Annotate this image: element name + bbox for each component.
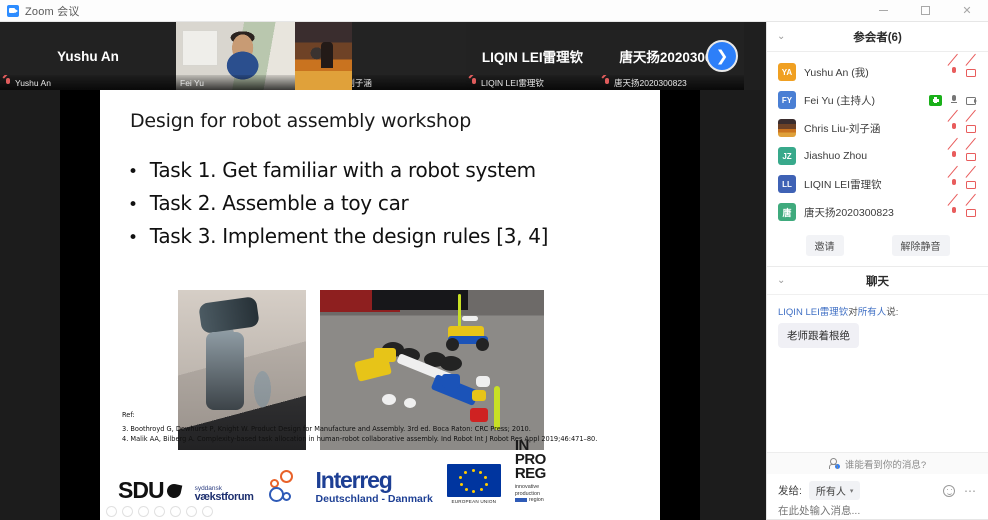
bullet-marker: • [128,164,138,181]
meeting-stage: Yushu An Yushu An Fei Yu Chris Liu-刘子涵 [0,22,766,520]
video-tile-display-name: LIQIN LEI雷理钦 [478,46,587,66]
chat-privacy-text: 谁能看到你的消息? [845,457,926,471]
chat-message-list: LIQIN LEI雷理钦对所有人说: 老师跟着根绝 [767,295,988,452]
chat-composer: 发给: 所有人 ▾ ⋯ [767,474,988,519]
participant-name: Yushu An (我) [804,65,940,80]
participant-row-tang-tianyang[interactable]: 唐 唐天扬2020300823 [767,198,988,226]
zoom-meeting-window: Zoom 会议 ✕ Yushu An Yushu An Fei Yu [0,0,988,520]
video-tile-label-text: LIQIN LEI雷理钦 [481,77,544,89]
video-tile-chris-liu[interactable] [295,22,352,90]
camera-off-icon[interactable] [966,206,978,218]
pen-icon[interactable] [138,506,149,517]
zoom-icon[interactable] [170,506,181,517]
sdu-logo-text: SDU [118,477,164,504]
maximize-button[interactable] [904,0,946,21]
video-feed-chris-liu [295,22,352,90]
participant-row-fei-yu[interactable]: FY Fei Yu (主持人) [767,86,988,114]
chat-sender-name: LIQIN LEI雷理钦 [778,307,848,318]
ref-label: Ref: [122,410,642,421]
avatar: 唐 [778,203,796,221]
title-bar: Zoom 会议 ✕ [0,0,988,22]
list-item: • Task 3. Implement the design rules [3,… [128,224,648,248]
participants-panel-header: ⌄ 参会者(6) [767,22,988,52]
camera-off-icon[interactable] [966,66,978,78]
participant-status-icons [948,66,978,78]
slide-letterbox-right [660,90,700,520]
video-tile-label-text: Chris Liu-刘子涵 [352,77,372,89]
participant-status-icons [948,206,978,218]
mic-muted-icon[interactable] [948,66,960,78]
prev-slide-icon[interactable] [106,506,117,517]
participant-name: LIQIN LEI雷理钦 [804,177,940,192]
participant-name: 唐天扬2020300823 [804,205,940,220]
avatar: YA [778,63,796,81]
close-button[interactable]: ✕ [946,0,988,21]
bullet-text: Task 1. Get familiar with a robot system [150,158,536,182]
participants-action-buttons: 邀请 解除静音 [767,226,988,267]
chevron-down-icon[interactable]: ⌄ [777,275,785,286]
chat-message-bubble: 老师跟着根绝 [778,323,859,348]
slide-letterbox-left [60,90,100,520]
filmstrip-spacer [744,22,766,90]
emoji-icon[interactable] [943,485,955,497]
send-to-value: 所有人 [816,483,846,498]
interreg-line1: Interreg [316,469,433,492]
screen-share-icon [929,95,942,106]
slide-logos: SDU syddansk vækstforum Interreg [118,458,646,504]
participant-filmstrip: Yushu An Yushu An Fei Yu Chris Liu-刘子涵 [0,22,766,90]
avatar: LL [778,175,796,193]
interreg-line2: Deutschland - Danmark [316,494,433,505]
participant-row-yushu-an[interactable]: YA Yushu An (我) [767,58,988,86]
chat-panel-title: 聊天 [767,273,988,289]
video-tile-yushu-an[interactable]: Yushu An Yushu An [0,22,176,90]
video-tile-label-text: 唐天扬2020300823 [614,77,687,89]
vaekstforum-line2: vækstforum [195,492,254,504]
participants-list: YA Yushu An (我) FY Fei Yu (主持人) Chris [767,52,988,226]
avatar [778,119,796,137]
bullet-marker: • [128,230,138,247]
invite-button[interactable]: 邀请 [806,235,844,256]
send-to-label: 发给: [778,483,802,498]
camera-on-icon[interactable] [966,94,978,106]
mic-muted-icon[interactable] [948,178,960,190]
bullet-text: Task 3. Implement the design rules [3, 4… [150,224,548,248]
mic-muted-icon [4,78,12,88]
photo-background-dark [372,290,468,310]
slide-title: Design for robot assembly workshop [130,110,471,132]
video-tile-label: LIQIN LEI雷理钦 [466,75,599,90]
list-item: • Task 2. Assemble a toy car [128,191,648,215]
inpro-bar-icon [515,498,527,502]
more-icon[interactable]: ⋯ [964,488,977,494]
presentation-slide: Design for robot assembly workshop • Tas… [100,90,660,520]
bullet-text: Task 2. Assemble a toy car [150,191,409,215]
mic-muted-icon[interactable] [948,206,960,218]
mic-on-icon[interactable] [948,94,960,106]
participant-row-jiashuo-zhou[interactable]: JZ Jiashuo Zhou [767,142,988,170]
video-tile-label: Chris Liu-刘子涵 [352,75,466,90]
participant-status-icons [948,150,978,162]
composer-icons: ⋯ [943,485,977,497]
chat-message-sender: LIQIN LEI雷理钦对所有人说: [778,304,977,318]
participant-row-liqin-lei[interactable]: LL LIQIN LEI雷理钦 [767,170,988,198]
chevron-down-icon[interactable]: ⌄ [777,31,785,42]
sdu-leaf-icon [165,482,182,499]
inpro-line3: REG [515,467,546,481]
participant-name: Fei Yu (主持人) [804,93,921,108]
more-options-icon[interactable] [202,506,213,517]
eu-caption: EUROPEAN UNION [447,499,501,504]
syddansk-vaekstforum-logo: syddansk vækstforum [195,486,254,504]
reference-entry: 4. Malik AA, Bilberg A. Complexity-based… [122,434,642,445]
european-union-logo: EUROPEAN UNION [447,464,501,504]
video-tile-label: 唐天扬2020300823 [599,75,744,90]
chat-suffix: 说: [886,307,898,318]
reference-entry: 3. Boothroyd G, Dewhurst P, Knight W. Pr… [122,424,642,435]
camera-off-icon[interactable] [966,122,978,134]
slide-references: Ref: 3. Boothroyd G, Dewhurst P, Knight … [122,410,642,445]
camera-off-icon[interactable] [966,150,978,162]
video-tile-label: Fei Yu [176,75,295,90]
thumbnail-icon[interactable] [154,506,165,517]
bullet-marker: • [128,197,138,214]
zoom-icon [7,5,19,17]
inpro-sub2: production [515,491,546,498]
list-item: • Task 1. Get familiar with a robot syst… [128,158,648,182]
blank-screen-icon[interactable] [186,506,197,517]
sdu-logo: SDU [118,477,181,504]
camera-off-icon[interactable] [966,178,978,190]
avatar: JZ [778,147,796,165]
right-side-panel: ⌄ 参会者(6) YA Yushu An (我) FY Fei Yu (主持人) [766,22,988,520]
participant-status-icons [948,122,978,134]
participant-name: Jiashuo Zhou [804,150,940,162]
next-slide-icon[interactable] [122,506,133,517]
video-tile-label: Yushu An [0,75,176,90]
avatar: FY [778,91,796,109]
slide-bullet-list: • Task 1. Get familiar with a robot syst… [128,158,648,257]
chat-privacy-notice[interactable]: 谁能看到你的消息? [767,452,988,474]
video-tile-display-name: Yushu An [53,49,123,64]
mic-muted-icon [603,78,611,88]
bubbles-icon [268,470,302,504]
video-tile-fei-yu[interactable]: Fei Yu [176,22,295,90]
mic-muted-icon[interactable] [948,150,960,162]
participant-name: Chris Liu-刘子涵 [804,121,940,136]
inpro-sub1: innovative [515,484,546,491]
chevron-down-icon: ▾ [850,487,854,495]
participants-panel-title: 参会者(6) [767,29,988,45]
participant-status-icons [948,178,978,190]
video-tile-liqin-lei[interactable]: LIQIN LEI雷理钦 LIQIN LEI雷理钦 [466,22,599,90]
chat-target: 所有人 [858,307,887,318]
mic-muted-icon [470,78,478,88]
eu-flag-icon [447,464,501,497]
shared-screen-area: Design for robot assembly workshop • Tas… [0,90,766,520]
mic-muted-icon[interactable] [948,122,960,134]
inpro-sub3: region [529,497,544,503]
chat-composer-toolbar: 发给: 所有人 ▾ ⋯ [778,481,977,500]
unmute-button[interactable]: 解除静音 [892,235,950,256]
window-controls: ✕ [862,0,988,21]
send-to-dropdown[interactable]: 所有人 ▾ [809,481,861,500]
chat-connector: 对 [848,307,858,318]
chevron-right-icon[interactable]: ❯ [706,40,738,72]
participant-status-icons [929,94,978,106]
window-title: Zoom 会议 [25,3,80,19]
video-tile-label-text: Fei Yu [180,78,204,88]
interreg-logo: Interreg Deutschland - Danmark [316,469,433,505]
participant-row-chris-liu[interactable]: Chris Liu-刘子涵 [767,114,988,142]
chat-input[interactable] [778,505,977,517]
inpro-reg-logo: IN PRO REG innovative production region [515,439,546,504]
people-icon [829,458,840,469]
chat-panel-header: ⌄ 聊天 [767,267,988,295]
powerpoint-presenter-toolbar[interactable] [106,506,213,517]
video-tile-chris-liu-name[interactable]: Chris Liu-刘子涵 [352,22,466,90]
video-tile-label-text: Yushu An [15,78,51,88]
minimize-button[interactable] [862,0,904,21]
